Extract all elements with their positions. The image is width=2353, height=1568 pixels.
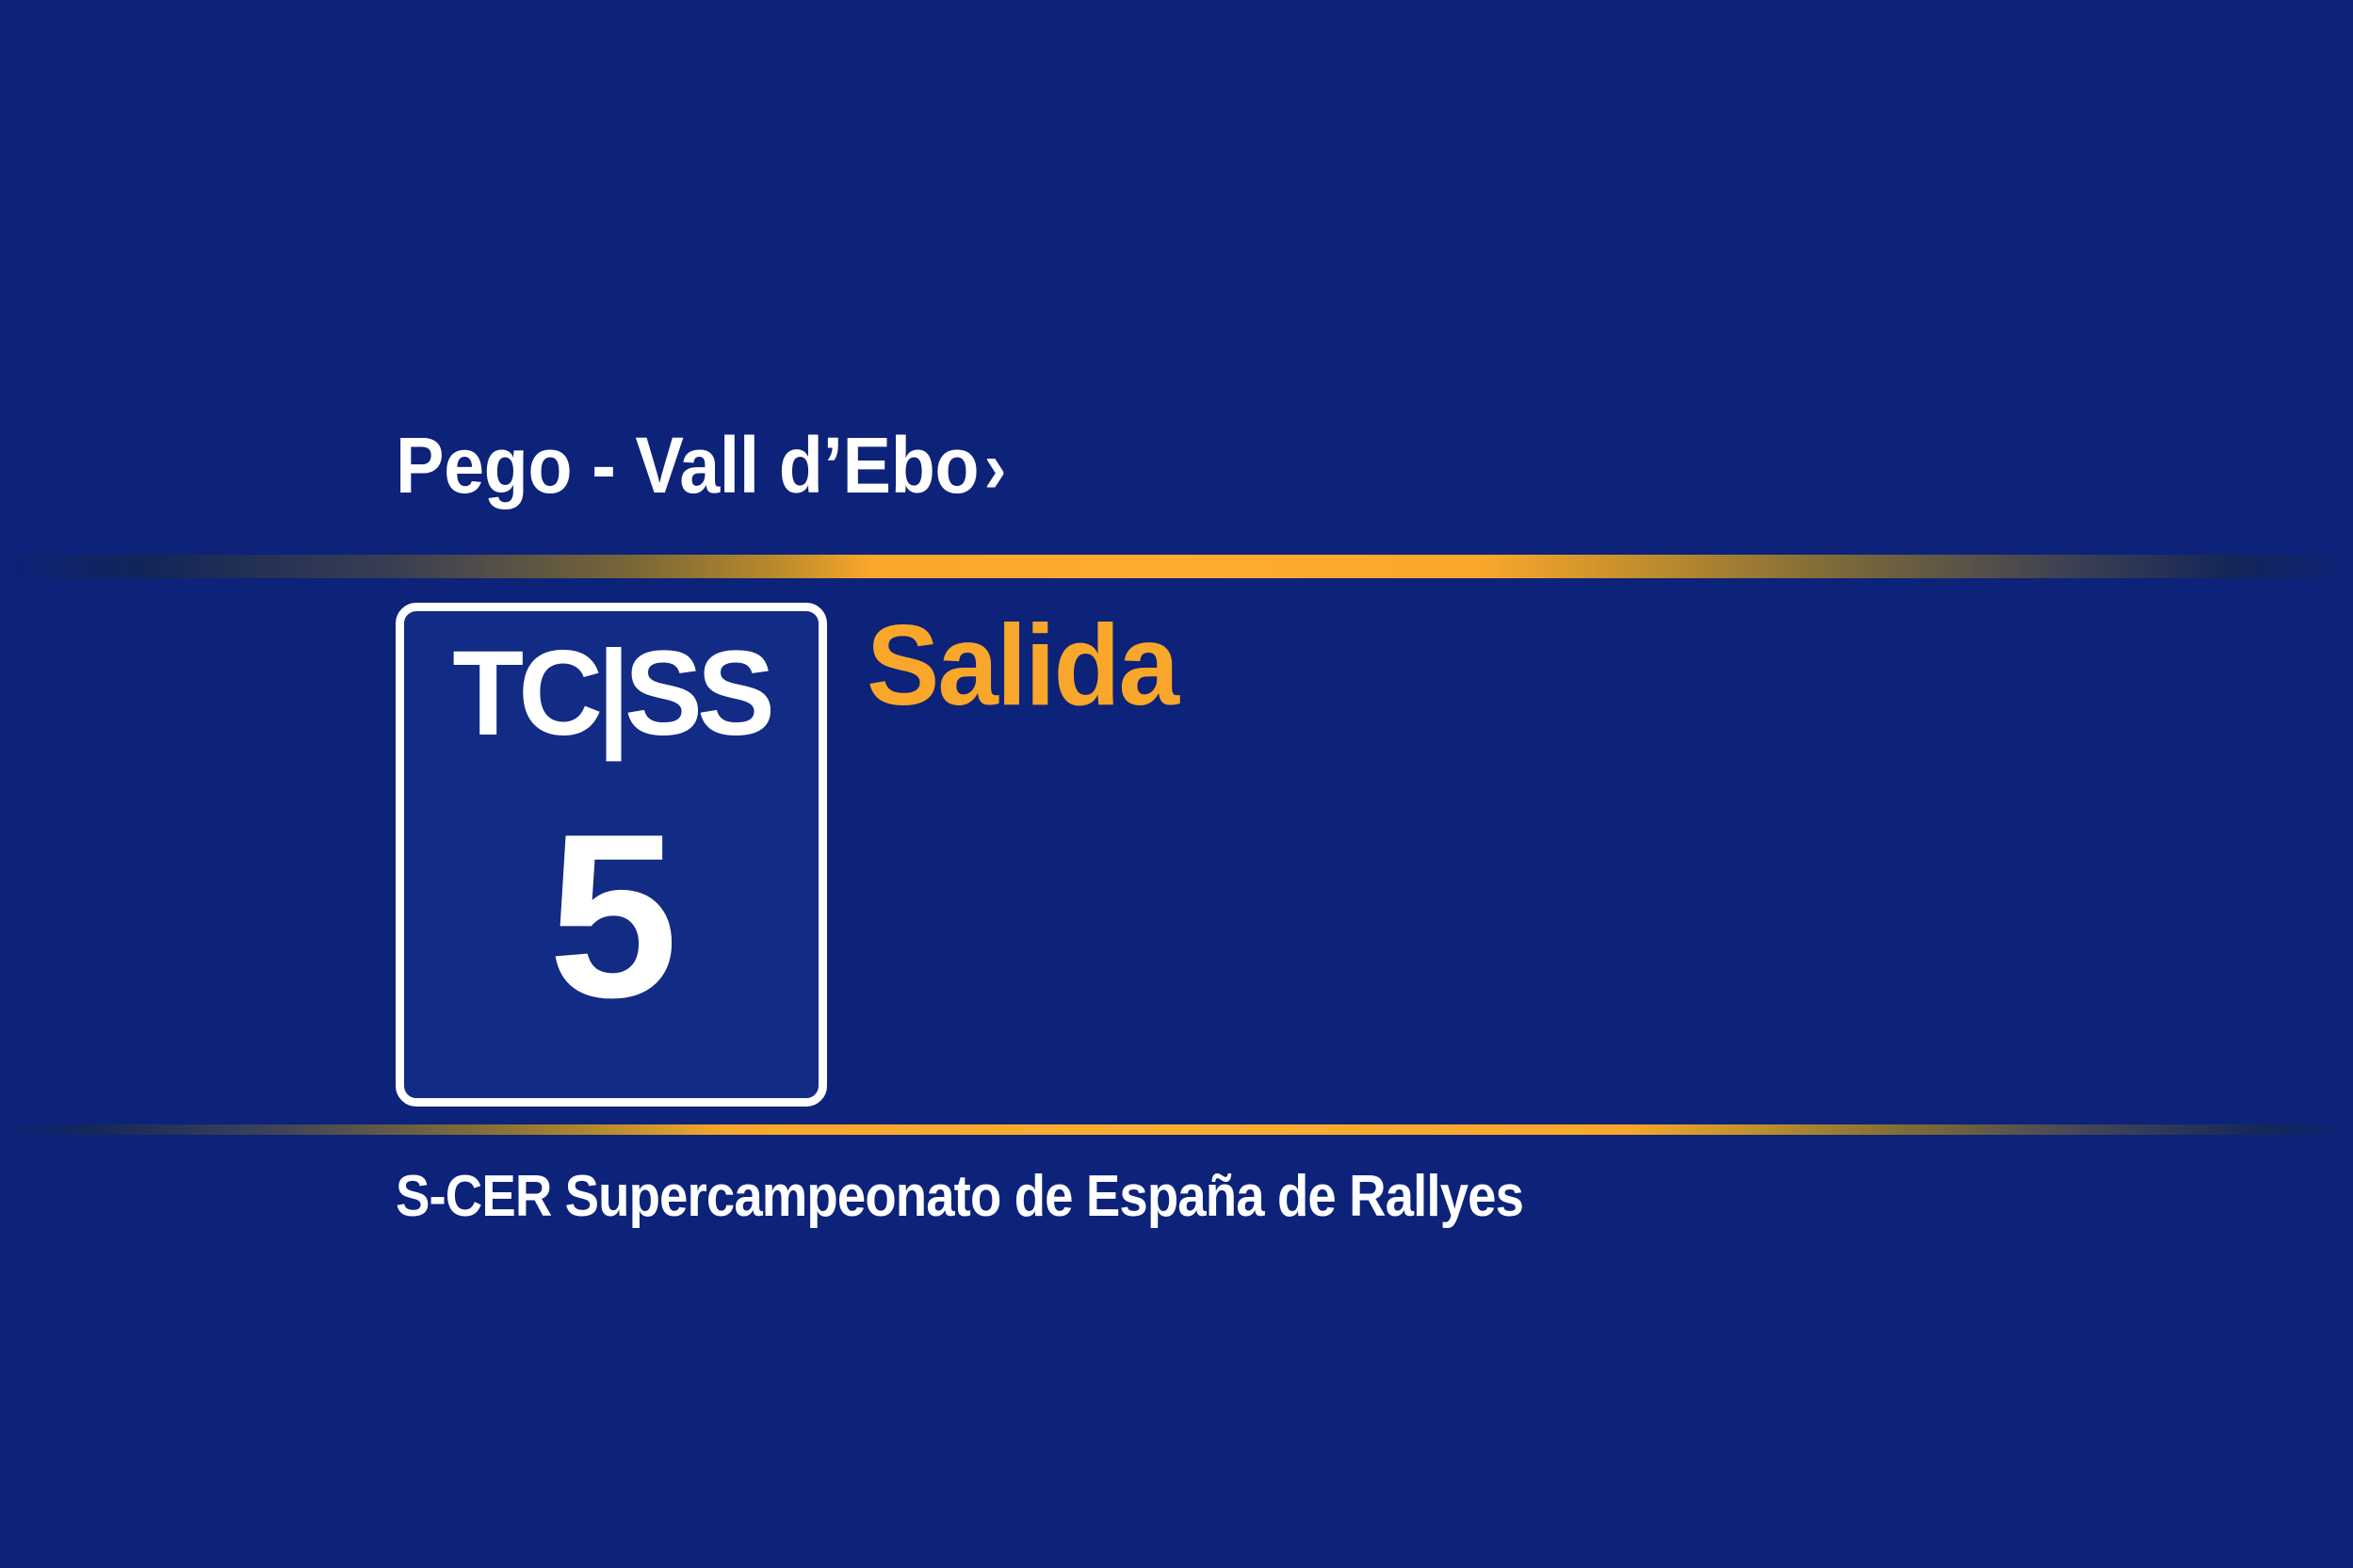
badge-number-label: 5 [548,805,674,1027]
stage-title: Pego - Vall d’Ebo› [396,426,1006,505]
badge-code-label: TC|SS [453,634,771,754]
time-control-badge: TC|SS 5 [396,603,827,1107]
championship-label: S-CER Supercampeonato de España de Rally… [396,1168,1523,1226]
divider-top [0,555,2353,578]
stage-name-label: Pego - Vall d’Ebo [396,421,979,509]
divider-bottom [0,1124,2353,1135]
status-label: Salida [867,607,1177,722]
chevron-right-icon: › [979,426,1006,509]
rally-stage-overlay: Pego - Vall d’Ebo› TC|SS 5 Salida S-CER … [0,0,2353,1568]
